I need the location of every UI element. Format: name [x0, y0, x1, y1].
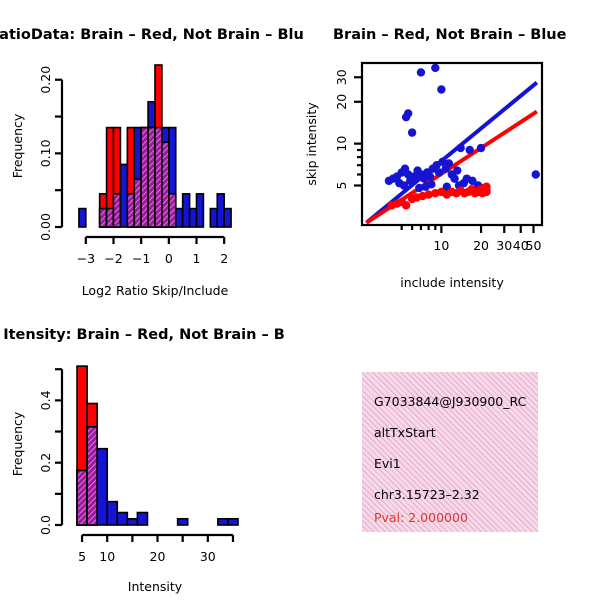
histogram-bar-overlap	[169, 194, 176, 227]
axis-text: 20	[334, 94, 349, 110]
histogram-bar-overlap	[127, 194, 134, 227]
axis-text: 30	[200, 549, 216, 564]
x-axis-title: Log2 Ratio Skip/Include	[82, 283, 229, 298]
histogram-bar-not-brain	[117, 513, 127, 525]
ratio-histogram-plot: 0.000.100.20−3−2−1012Log2 Ratio Skip/Inc…	[0, 55, 300, 305]
x-axis-title: Intensity	[128, 579, 183, 594]
histogram-bar-not-brain	[120, 164, 127, 227]
axis-text: 0.0	[38, 515, 53, 535]
axis-text: −1	[132, 251, 150, 266]
axis-text: 20	[150, 549, 166, 564]
scatter-point-brain	[482, 188, 490, 196]
scatter-point-not-brain	[456, 144, 464, 152]
axis-text: 5	[334, 182, 349, 190]
axis-text: 0.4	[38, 390, 53, 410]
axis-text: 2	[220, 251, 228, 266]
histogram-bar-not-brain	[217, 194, 224, 227]
gene-info-box: G7033844@J930900_RC altTxStart Evi1 chr3…	[362, 372, 538, 532]
axis-text: −2	[104, 251, 122, 266]
histogram-bar-overlap	[107, 209, 114, 227]
histogram-bar-not-brain	[190, 209, 197, 227]
histogram-bar-not-brain	[107, 502, 117, 525]
axis-text: 0.2	[38, 453, 53, 473]
scatter-point-not-brain	[417, 68, 425, 76]
intensity-scatter-panel: 51020301020304050include intensityskip i…	[300, 55, 600, 305]
scatter-data-layer	[366, 64, 540, 223]
scatter-point-not-brain	[408, 128, 416, 136]
axis-text: 10	[99, 549, 115, 564]
histogram-bar-not-brain	[176, 209, 183, 227]
info-coordinates: chr3.15723–2.32	[374, 487, 480, 502]
y-axis-title: Frequency	[10, 113, 25, 178]
figure-canvas: RatioData: Brain – Red, Not Brain – Blu …	[0, 0, 600, 600]
ratio-histogram-panel: 0.000.100.20−3−2−1012Log2 Ratio Skip/Inc…	[0, 55, 300, 305]
axis-text: 0.20	[38, 66, 53, 94]
histogram-bar-not-brain	[210, 209, 217, 227]
info-gene-name: Evi1	[374, 456, 401, 471]
scatter-point-not-brain	[532, 170, 540, 178]
axis-text: 0	[165, 251, 173, 266]
histogram-bar-overlap	[100, 209, 107, 227]
scatter-point-not-brain	[445, 159, 453, 167]
scatter-point-brain	[402, 201, 410, 209]
scatter-point-not-brain	[431, 64, 439, 72]
scatter-point-not-brain	[477, 144, 485, 152]
histogram-bar-overlap	[87, 427, 97, 525]
x-axis-title: include intensity	[400, 275, 504, 290]
histogram-bar-not-brain	[224, 209, 231, 227]
bottom-left-panel-title: ne Itensity: Brain – Red, Not Brain – B	[0, 327, 285, 343]
scatter-point-not-brain	[437, 85, 445, 93]
histogram-bar-not-brain	[183, 194, 190, 227]
histogram-bar-not-brain	[197, 194, 204, 227]
gene-intensity-histogram-plot: 0.00.20.45102030IntensityFrequency	[0, 355, 300, 600]
scatter-point-not-brain	[385, 177, 393, 185]
axis-text: 5	[78, 549, 86, 564]
histogram-bar-overlap	[77, 470, 87, 525]
info-event-type: altTxStart	[374, 425, 436, 440]
histogram-bar-overlap	[148, 128, 155, 227]
histogram-bar-overlap	[114, 194, 121, 227]
histogram-bar-not-brain	[97, 449, 107, 525]
intensity-scatter-plot: 51020301020304050include intensityskip i…	[300, 55, 600, 305]
axis-text: −3	[77, 251, 95, 266]
histogram-bar-not-brain	[228, 519, 238, 525]
scatter-point-not-brain	[453, 166, 461, 174]
axis-text: 20	[473, 238, 489, 253]
top-left-panel-title: RatioData: Brain – Red, Not Brain – Blu	[0, 27, 304, 43]
histogram-bar-overlap	[155, 128, 162, 227]
scatter-point-not-brain	[427, 180, 435, 188]
info-pvalue: Pval: 2.000000	[374, 510, 468, 525]
axis-text: 0.00	[38, 213, 53, 241]
plot-frame	[362, 63, 542, 225]
histogram-bar-overlap	[162, 142, 169, 227]
scatter-point-not-brain	[402, 113, 410, 121]
axis-text: 1	[193, 251, 201, 266]
histogram-bar-not-brain	[137, 513, 147, 525]
axis-text: 10	[334, 136, 349, 152]
scatter-point-not-brain	[426, 172, 434, 180]
info-probe-id: G7033844@J930900_RC	[374, 394, 526, 409]
scatter-point-not-brain	[465, 146, 473, 154]
axis-text: 30	[334, 69, 349, 85]
histogram-bar-not-brain	[218, 519, 228, 525]
histogram-bar-not-brain	[178, 519, 188, 525]
axis-text: 50	[526, 238, 542, 253]
gene-intensity-histogram-panel: 0.00.20.45102030IntensityFrequency	[0, 355, 300, 600]
histogram-bar-not-brain	[127, 519, 137, 525]
histogram-bar-not-brain	[79, 209, 86, 227]
axis-text: 10	[433, 238, 449, 253]
y-axis-title: skip intensity	[304, 102, 319, 186]
histogram-bar-overlap	[134, 179, 141, 227]
axis-text: 30	[496, 238, 512, 253]
axis-text: 0.10	[38, 139, 53, 167]
top-right-panel-title: Brain – Red, Not Brain – Blue	[333, 27, 566, 43]
histogram-bar-overlap	[141, 128, 148, 227]
y-axis-title: Frequency	[10, 411, 25, 476]
